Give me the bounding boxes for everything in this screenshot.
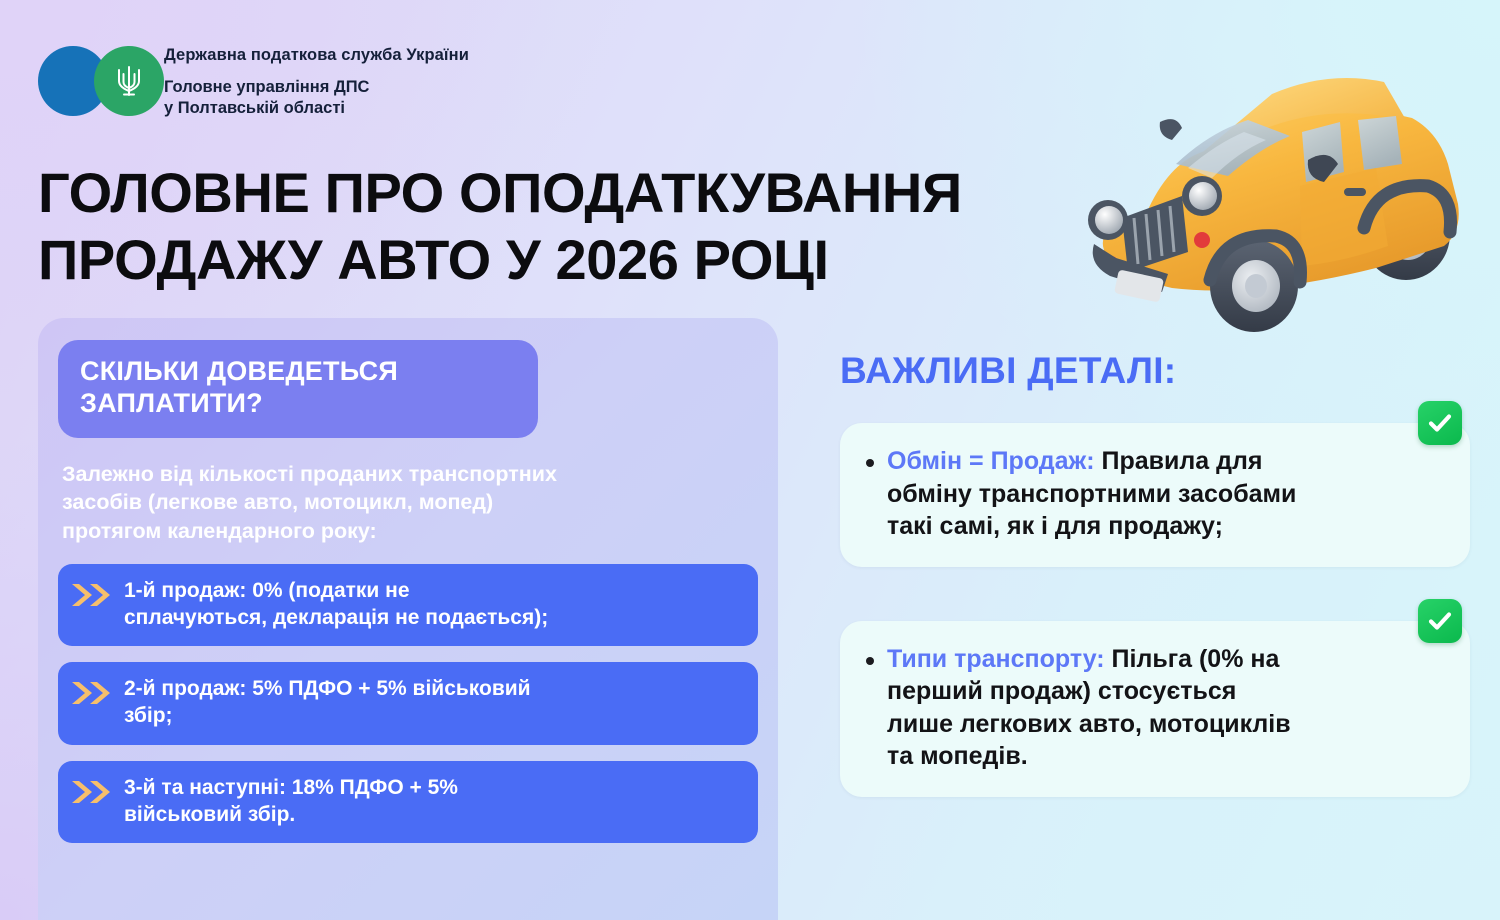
list-item: 1-й продаж: 0% (податки не сплачуються, … [58,564,758,647]
ukraine-trident-icon [112,61,146,101]
dps-logo [38,44,164,118]
org-title-line1: Державна податкова служба України [164,46,469,65]
detail-card-rest3: лише легкових авто, мотоциклів [887,710,1291,738]
list-item: 3-й та наступні: 18% ПДФО + 5% військови… [58,761,758,844]
panel-heading-line1: СКІЛЬКИ ДОВЕДЕТЬСЯ [80,356,516,388]
payment-list: 1-й продаж: 0% (податки не сплачуються, … [58,564,758,844]
panel-intro-line1: Залежно від кількості проданих транспорт… [62,460,754,489]
org-title-line2b: у Полтавській області [164,99,345,117]
panel-intro-line2: засобів (легкове авто, мотоцикл, мопед) [62,488,754,517]
detail-card: Типи транспорту: Пільга (0% на перший пр… [840,621,1470,797]
double-chevron-icon [70,581,112,609]
bullet-icon [866,657,874,665]
page-title-line1: ГОЛОВНЕ ПРО ОПОДАТКУВАННЯ [38,163,1068,222]
list-item: 2-й продаж: 5% ПДФО + 5% військовий збір… [58,662,758,745]
panel-intro-text: Залежно від кількості проданих транспорт… [58,460,758,546]
page-title: ГОЛОВНЕ ПРО ОПОДАТКУВАННЯ ПРОДАЖУ АВТО У… [38,163,1068,290]
list-item-line2: сплачуються, декларація не подається); [124,604,548,631]
detail-card-rest1: Пільга (0% на [1105,645,1280,673]
list-item-line1: 3-й та наступні: 18% ПДФО + 5% [124,774,458,801]
panel-heading-line2: ЗАПЛАТИТИ? [80,388,516,420]
detail-card-rest4: та мопедів. [887,742,1028,770]
green-checkmark-icon [1418,599,1462,643]
bullet-icon [866,459,874,467]
detail-card-lead: Типи транспорту: [887,645,1105,673]
header-logo-block: Державна податкова служба України Головн… [38,44,469,119]
panel-intro-line3: протягом календарного року: [62,517,754,546]
double-chevron-icon [70,778,112,806]
yellow-retro-car-illustration [1076,36,1486,336]
list-item-line1: 2-й продаж: 5% ПДФО + 5% військовий [124,675,531,702]
detail-card-text: Типи транспорту: Пільга (0% на перший пр… [887,643,1291,773]
list-item-line2: збір; [124,702,531,729]
panel-heading-badge: СКІЛЬКИ ДОВЕДЕТЬСЯ ЗАПЛАТИТИ? [58,340,538,438]
detail-card-rest1: Правила для [1095,447,1263,475]
important-details-section: ВАЖЛИВІ ДЕТАЛІ: Обмін = Продаж: Правила … [840,352,1470,797]
org-title-line2a: Головне управління ДПС [164,78,369,96]
detail-card-text: Обмін = Продаж: Правила для обміну транс… [887,445,1296,543]
page-title-line2: ПРОДАЖУ АВТО У 2026 РОЦІ [38,230,1068,289]
detail-card-rest2: перший продаж) стосується [887,677,1236,705]
green-checkmark-icon [1418,401,1462,445]
detail-card-rest2: обміну транспортними засобами [887,480,1296,508]
detail-card-rest3: такі самі, як і для продажу; [887,512,1223,540]
payment-amount-panel: СКІЛЬКИ ДОВЕДЕТЬСЯ ЗАПЛАТИТИ? Залежно ві… [38,318,778,920]
list-item-line2: військовий збір. [124,801,458,828]
double-chevron-icon [70,679,112,707]
detail-card-lead: Обмін = Продаж: [887,447,1095,475]
list-item-line1: 1-й продаж: 0% (податки не [124,577,548,604]
logo-green-circle-icon [94,46,164,116]
detail-card: Обмін = Продаж: Правила для обміну транс… [840,423,1470,567]
org-name-block: Державна податкова служба України Головн… [164,44,469,119]
important-details-heading: ВАЖЛИВІ ДЕТАЛІ: [840,352,1470,389]
